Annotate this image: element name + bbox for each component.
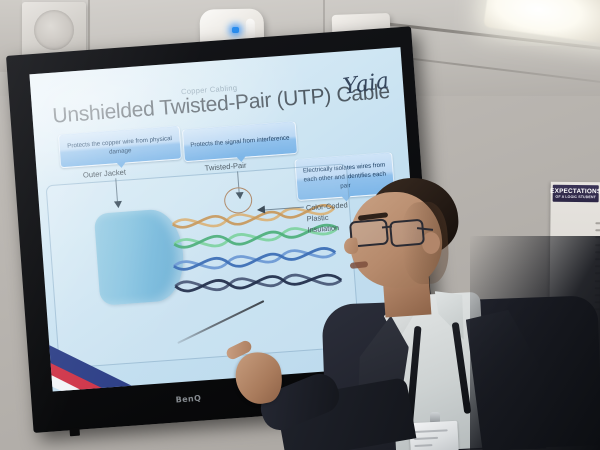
cable-outer-jacket [94,208,187,306]
label-outer-jacket: Outer Jacket [83,168,127,180]
callout-outer-jacket[interactable]: Protects the copper wire from physical d… [58,125,182,168]
presenter-nose [343,237,359,255]
speaker-cone [34,10,74,50]
callout-twisted-pair[interactable]: Protects the signal from interference [182,121,298,162]
badge-text-line [414,437,438,440]
display-foot [69,428,80,437]
badge-text-line [414,444,432,447]
presenter-ear [422,232,440,254]
id-badge [409,421,459,450]
display-brand-label: BenQ [175,394,201,405]
badge-text-line [414,429,448,433]
access-point-led-indicator [232,27,239,33]
slide-corner-decoration [43,329,165,391]
screenshot-scene: EXPECTATIONS OF A LOGIC STUDENT BenQ C [0,0,600,450]
right-shadow-overlay [470,236,600,450]
glasses-lens-right [389,219,425,248]
